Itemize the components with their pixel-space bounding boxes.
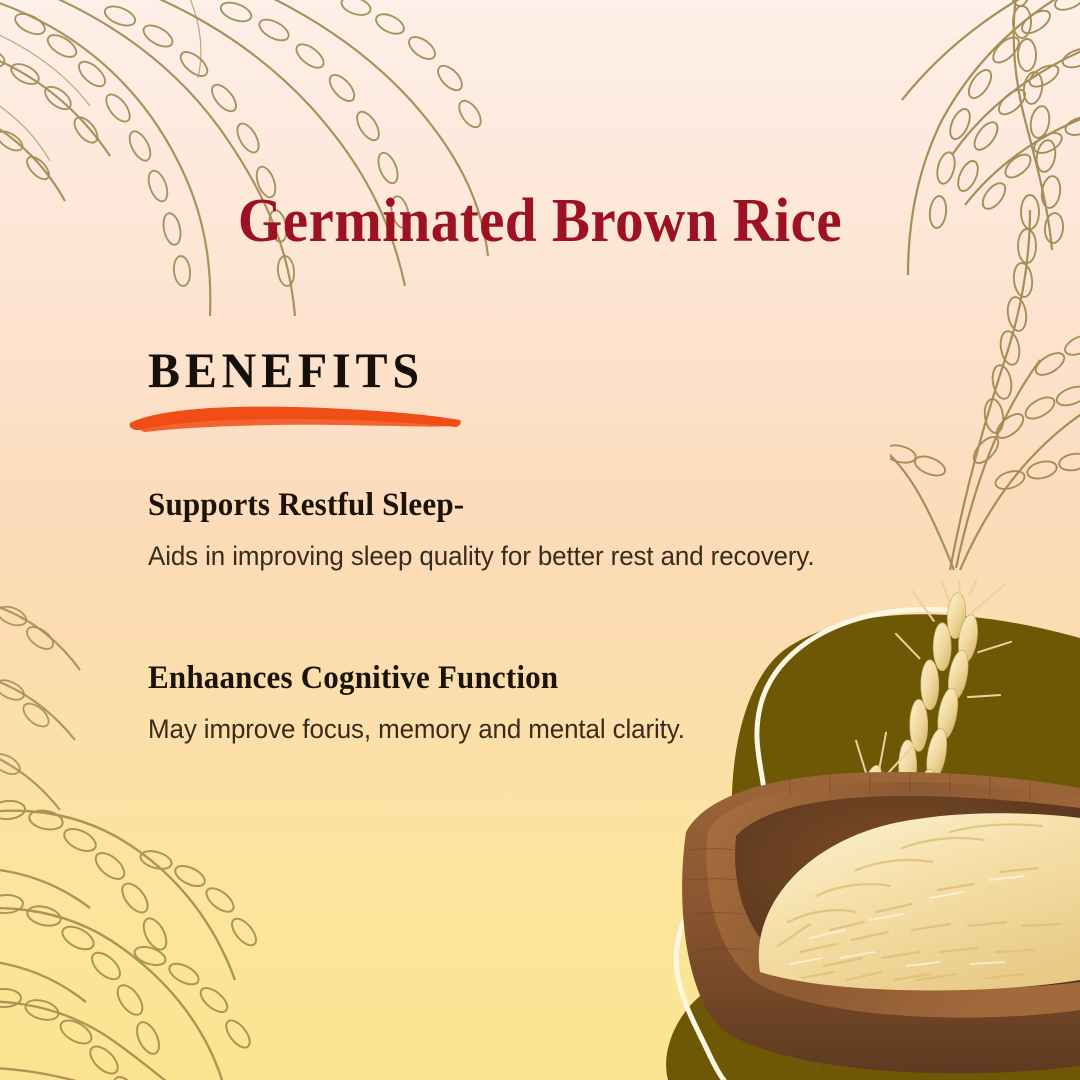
rice-stalk-line-art-bottom-left (0, 710, 280, 1080)
benefit-description: Aids in improving sleep quality for bett… (148, 541, 906, 572)
rice-stalk-line-art-left (0, 560, 150, 860)
page-title: Germinated Brown Rice (43, 186, 1037, 257)
benefits-section-header: BENEFITS (148, 345, 568, 395)
product-image-composition (650, 580, 1080, 1080)
benefit-item: Supports Restful Sleep- Aids in improvin… (148, 487, 938, 572)
section-heading: BENEFITS (148, 345, 551, 395)
rice-stalk-line-art-top-left (0, 0, 490, 316)
benefit-heading: Supports Restful Sleep- (148, 487, 891, 524)
brush-stroke-underline (126, 401, 466, 435)
poster-canvas: Germinated Brown Rice BENEFITS Supports … (0, 0, 1080, 1080)
